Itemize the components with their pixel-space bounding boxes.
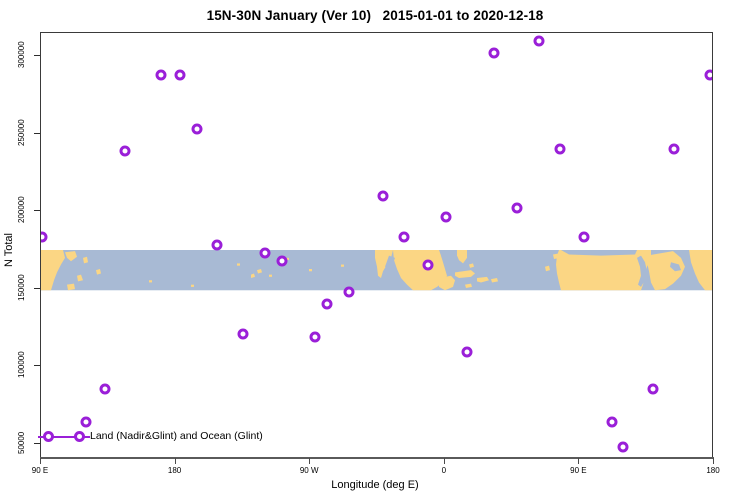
x-tick-mark: [444, 458, 445, 464]
data-point-marker: [378, 190, 389, 201]
x-tick-label: 0: [419, 466, 469, 475]
data-point-marker: [100, 384, 111, 395]
data-point-marker: [260, 247, 271, 258]
x-tick-label: 90 E: [15, 466, 65, 475]
legend-label-land-ocean: Land (Nadir&Glint) and Ocean (Glint): [90, 430, 263, 442]
legend: Land (Nadir&Glint) and Ocean (Glint): [38, 426, 263, 446]
data-point-marker: [119, 145, 130, 156]
data-point-marker: [607, 416, 618, 427]
x-tick-label: 180: [150, 466, 200, 475]
x-tick-label: 90 E: [553, 466, 603, 475]
data-point-marker: [554, 144, 565, 155]
background-map-band: [41, 33, 712, 457]
x-tick-mark: [175, 458, 176, 464]
y-tick-mark: [34, 133, 40, 134]
data-point-marker: [40, 232, 48, 243]
data-point-marker: [441, 212, 452, 223]
y-tick-mark: [34, 288, 40, 289]
data-point-marker: [534, 35, 545, 46]
legend-marker-land-ocean: [38, 431, 90, 442]
chart-title: 15N-30N January (Ver 10) 2015-01-01 to 2…: [0, 8, 750, 23]
data-point-marker: [399, 232, 410, 243]
y-axis-label: N Total: [2, 0, 16, 500]
data-point-marker: [489, 48, 500, 59]
data-point-marker: [237, 328, 248, 339]
legend-marker-circle-right: [74, 431, 85, 442]
data-point-marker: [212, 240, 223, 251]
legend-marker-circle-left: [43, 431, 54, 442]
y-tick-mark: [34, 210, 40, 211]
y-tick-mark: [34, 365, 40, 366]
y-tick-label: 50000: [18, 423, 26, 463]
data-point-marker: [309, 331, 320, 342]
x-tick-mark: [40, 458, 41, 464]
data-point-marker: [578, 232, 589, 243]
y-tick-label: 250000: [18, 113, 26, 153]
y-tick-label: 100000: [18, 345, 26, 385]
data-point-marker: [344, 286, 355, 297]
data-point-marker: [423, 260, 434, 271]
plot-area: [40, 32, 713, 458]
chart-figure: 15N-30N January (Ver 10) 2015-01-01 to 2…: [0, 0, 750, 500]
data-point-marker: [321, 299, 332, 310]
x-axis-label: Longitude (deg E): [0, 479, 750, 491]
y-tick-label: 300000: [18, 35, 26, 75]
data-point-marker: [155, 69, 166, 80]
y-tick-label: 150000: [18, 268, 26, 308]
data-point-marker: [647, 384, 658, 395]
data-point-marker: [276, 255, 287, 266]
x-tick-mark: [713, 458, 714, 464]
y-tick-mark: [34, 55, 40, 56]
y-axis-label-text: N Total: [3, 233, 15, 267]
x-tick-mark: [309, 458, 310, 464]
y-tick-label: 200000: [18, 190, 26, 230]
world-map-strip: [41, 88, 712, 457]
x-tick-mark: [578, 458, 579, 464]
data-point-marker: [175, 69, 186, 80]
x-axis-line: [40, 457, 714, 459]
data-point-marker: [668, 144, 679, 155]
data-point-marker: [191, 124, 202, 135]
data-point-marker: [704, 69, 713, 80]
x-tick-label: 180: [688, 466, 738, 475]
data-point-marker: [511, 203, 522, 214]
data-point-marker: [617, 441, 628, 452]
x-tick-label: 90 W: [284, 466, 334, 475]
data-point-marker: [462, 347, 473, 358]
